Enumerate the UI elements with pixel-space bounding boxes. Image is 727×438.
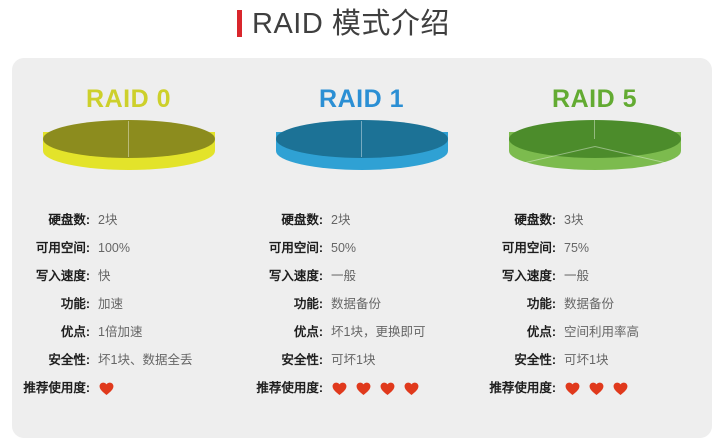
spec-row-safety: 安全性: 可坏1块 — [245, 346, 478, 374]
spec-value-safety: 可坏1块 — [564, 346, 608, 374]
spec-row-function: 功能: 数据备份 — [478, 290, 711, 318]
spec-row-write-speed: 写入速度: 一般 — [478, 262, 711, 290]
heart-icon — [588, 380, 605, 397]
spec-label-safety: 安全性: — [514, 346, 556, 374]
spec-row-recommendation: 推荐使用度: — [245, 374, 478, 402]
raid-0-disk-illustration — [43, 120, 215, 180]
spec-label-capacity: 可用空间: — [36, 234, 90, 262]
spec-value-advantage: 1倍加速 — [98, 318, 142, 346]
spec-row-recommendation: 推荐使用度: — [478, 374, 711, 402]
heart-icon — [379, 380, 396, 397]
spec-value-disks: 2块 — [98, 206, 117, 234]
spec-row-disks: 硬盘数: 2块 — [12, 206, 245, 234]
spec-value-advantage: 坏1块，更换即可 — [331, 318, 425, 346]
heart-icon — [403, 380, 420, 397]
spec-label-disks: 硬盘数: — [281, 206, 323, 234]
page-title: RAID 模式介绍 — [252, 5, 450, 43]
spec-row-advantage: 优点: 空间利用率高 — [478, 318, 711, 346]
spec-value-function: 加速 — [98, 290, 123, 318]
spec-row-safety: 安全性: 可坏1块 — [478, 346, 711, 374]
spec-row-capacity: 可用空间: 75% — [478, 234, 711, 262]
spec-label-disks: 硬盘数: — [514, 206, 556, 234]
disk-seam — [128, 121, 129, 157]
raid-1-disk-illustration — [276, 120, 448, 180]
spec-row-advantage: 优点: 1倍加速 — [12, 318, 245, 346]
spec-value-write-speed: 一般 — [331, 262, 356, 290]
spec-value-safety: 坏1块、数据全丢 — [98, 346, 192, 374]
spec-label-function: 功能: — [527, 290, 556, 318]
heart-icon — [612, 380, 629, 397]
heart-icon — [331, 380, 348, 397]
spec-value-advantage: 空间利用率高 — [564, 318, 639, 346]
spec-label-capacity: 可用空间: — [502, 234, 556, 262]
spec-label-write-speed: 写入速度: — [269, 262, 323, 290]
spec-label-recommendation: 推荐使用度: — [256, 374, 323, 402]
title-accent-bar — [237, 10, 242, 37]
raid-comparison-card: RAID 0 硬盘数: 2块 可用空间: 100% 写入速度: 快 功能: 加速 — [12, 58, 712, 438]
raid-column-0-title: RAID 0 — [12, 85, 245, 114]
recommendation-hearts — [98, 374, 122, 402]
spec-label-recommendation: 推荐使用度: — [23, 374, 90, 402]
spec-label-advantage: 优点: — [61, 318, 90, 346]
raid-column-0: RAID 0 硬盘数: 2块 可用空间: 100% 写入速度: 快 功能: 加速 — [12, 58, 245, 438]
spec-value-write-speed: 快 — [98, 262, 111, 290]
disk-seam — [594, 120, 595, 139]
raid-1-spec-list: 硬盘数: 2块 可用空间: 50% 写入速度: 一般 功能: 数据备份 优点: … — [245, 206, 478, 402]
raid-5-spec-list: 硬盘数: 3块 可用空间: 75% 写入速度: 一般 功能: 数据备份 优点: … — [478, 206, 711, 402]
raid-5-disk-illustration — [509, 120, 681, 180]
spec-value-capacity: 75% — [564, 234, 589, 262]
heart-icon — [564, 380, 581, 397]
spec-row-recommendation: 推荐使用度: — [12, 374, 245, 402]
heart-icon — [98, 380, 115, 397]
raid-0-spec-list: 硬盘数: 2块 可用空间: 100% 写入速度: 快 功能: 加速 优点: 1倍… — [12, 206, 245, 402]
spec-value-safety: 可坏1块 — [331, 346, 375, 374]
spec-value-function: 数据备份 — [331, 290, 381, 318]
page-header: RAID 模式介绍 — [0, 0, 727, 58]
spec-row-function: 功能: 数据备份 — [245, 290, 478, 318]
spec-row-safety: 安全性: 坏1块、数据全丢 — [12, 346, 245, 374]
raid-column-1: RAID 1 硬盘数: 2块 可用空间: 50% 写入速度: 一般 功能: 数据… — [245, 58, 478, 438]
spec-label-write-speed: 写入速度: — [36, 262, 90, 290]
spec-label-disks: 硬盘数: — [48, 206, 90, 234]
spec-label-advantage: 优点: — [527, 318, 556, 346]
spec-label-function: 功能: — [294, 290, 323, 318]
disk-top — [43, 120, 215, 158]
spec-row-write-speed: 写入速度: 一般 — [245, 262, 478, 290]
spec-value-function: 数据备份 — [564, 290, 614, 318]
heart-icon — [355, 380, 372, 397]
spec-row-capacity: 可用空间: 50% — [245, 234, 478, 262]
spec-value-capacity: 100% — [98, 234, 130, 262]
spec-label-write-speed: 写入速度: — [502, 262, 556, 290]
raid-column-2: RAID 5 硬盘数: 3块 可用空间: 75% 写入速度: 一般 — [478, 58, 711, 438]
disk-top — [509, 120, 681, 158]
spec-row-function: 功能: 加速 — [12, 290, 245, 318]
spec-row-advantage: 优点: 坏1块，更换即可 — [245, 318, 478, 346]
spec-row-capacity: 可用空间: 100% — [12, 234, 245, 262]
spec-label-capacity: 可用空间: — [269, 234, 323, 262]
recommendation-hearts — [331, 374, 427, 402]
spec-label-advantage: 优点: — [294, 318, 323, 346]
disk-top — [276, 120, 448, 158]
spec-value-write-speed: 一般 — [564, 262, 589, 290]
spec-label-recommendation: 推荐使用度: — [489, 374, 556, 402]
disk-seam — [361, 121, 362, 157]
spec-row-disks: 硬盘数: 3块 — [478, 206, 711, 234]
spec-label-function: 功能: — [61, 290, 90, 318]
spec-row-write-speed: 写入速度: 快 — [12, 262, 245, 290]
spec-label-safety: 安全性: — [48, 346, 90, 374]
spec-value-capacity: 50% — [331, 234, 356, 262]
recommendation-hearts — [564, 374, 636, 402]
spec-label-safety: 安全性: — [281, 346, 323, 374]
spec-row-disks: 硬盘数: 2块 — [245, 206, 478, 234]
raid-column-2-title: RAID 5 — [478, 85, 711, 114]
raid-column-1-title: RAID 1 — [245, 85, 478, 114]
spec-value-disks: 3块 — [564, 206, 583, 234]
spec-value-disks: 2块 — [331, 206, 350, 234]
